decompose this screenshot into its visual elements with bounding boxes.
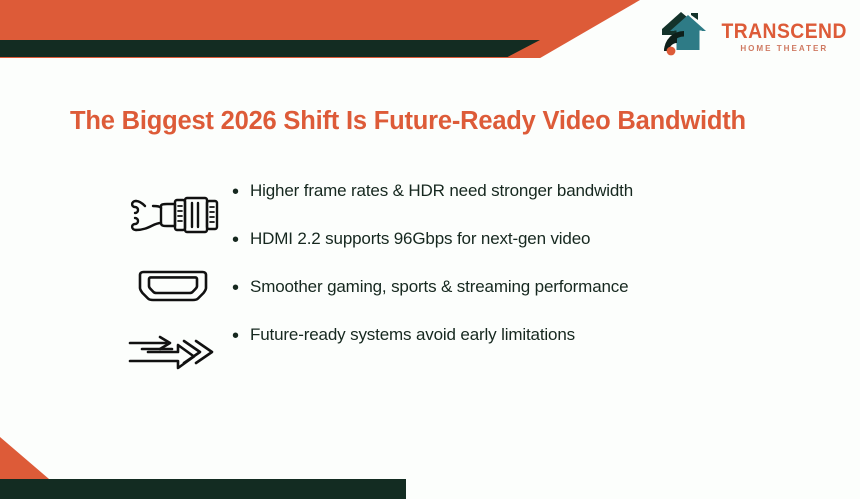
icon-column (118, 178, 228, 388)
bullet-text: Future-ready systems avoid early limitat… (250, 322, 575, 348)
brand-tagline: HOME THEATER (740, 44, 828, 53)
bottom-green-bar (0, 479, 406, 499)
brand-logo-text: TRANSCEND HOME THEATER (716, 17, 852, 53)
list-item: • HDMI 2.2 supports 96Gbps for next-gen … (232, 226, 832, 274)
bullet-marker-icon: • (232, 178, 250, 205)
bottom-orange-triangle (0, 437, 49, 479)
top-green-banner (0, 40, 540, 57)
list-item: • Higher frame rates & HDR need stronger… (232, 178, 832, 226)
page-title: The Biggest 2026 Shift Is Future-Ready V… (70, 107, 800, 136)
hdmi-cable-icon (118, 192, 228, 240)
bullet-marker-icon: • (232, 226, 250, 253)
hdmi-port-icon (118, 266, 228, 306)
bullet-text: Smoother gaming, sports & streaming perf… (250, 274, 628, 300)
bullet-marker-icon: • (232, 274, 250, 301)
slide-canvas: TRANSCEND HOME THEATER The Biggest 2026 … (0, 0, 860, 499)
house-wifi-logo-icon (658, 9, 710, 61)
brand-name: TRANSCEND (721, 21, 846, 42)
bullet-marker-icon: • (232, 322, 250, 349)
list-item: • Future-ready systems avoid early limit… (232, 322, 832, 370)
fast-forward-arrows-icon (118, 330, 228, 374)
bullet-text: Higher frame rates & HDR need stronger b… (250, 178, 633, 204)
slide-content: • Higher frame rates & HDR need stronger… (0, 178, 860, 388)
brand-logo: TRANSCEND HOME THEATER (658, 7, 818, 63)
bullet-text: HDMI 2.2 supports 96Gbps for next-gen vi… (250, 226, 590, 252)
list-item: • Smoother gaming, sports & streaming pe… (232, 274, 832, 322)
bullet-list: • Higher frame rates & HDR need stronger… (232, 178, 832, 370)
